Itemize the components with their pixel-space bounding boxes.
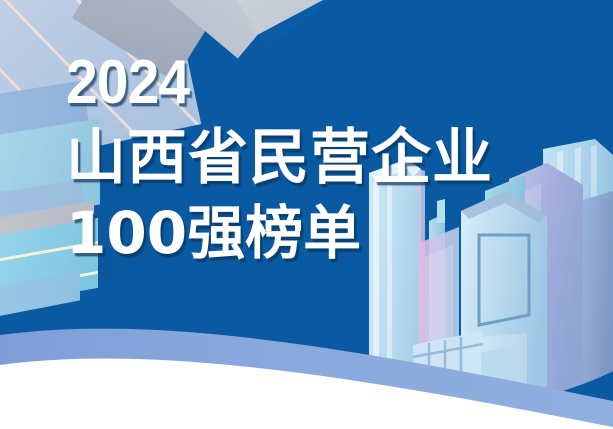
- title-main-heading: 山西省民营企业: [66, 128, 493, 188]
- poster-title-block: 2024 山西省民营企业 100强榜单: [66, 52, 493, 262]
- title-rank-heading: 100强榜单: [66, 204, 493, 262]
- title-year: 2024: [66, 52, 459, 114]
- poster-canvas: 2024 山西省民营企业 100强榜单: [0, 0, 613, 429]
